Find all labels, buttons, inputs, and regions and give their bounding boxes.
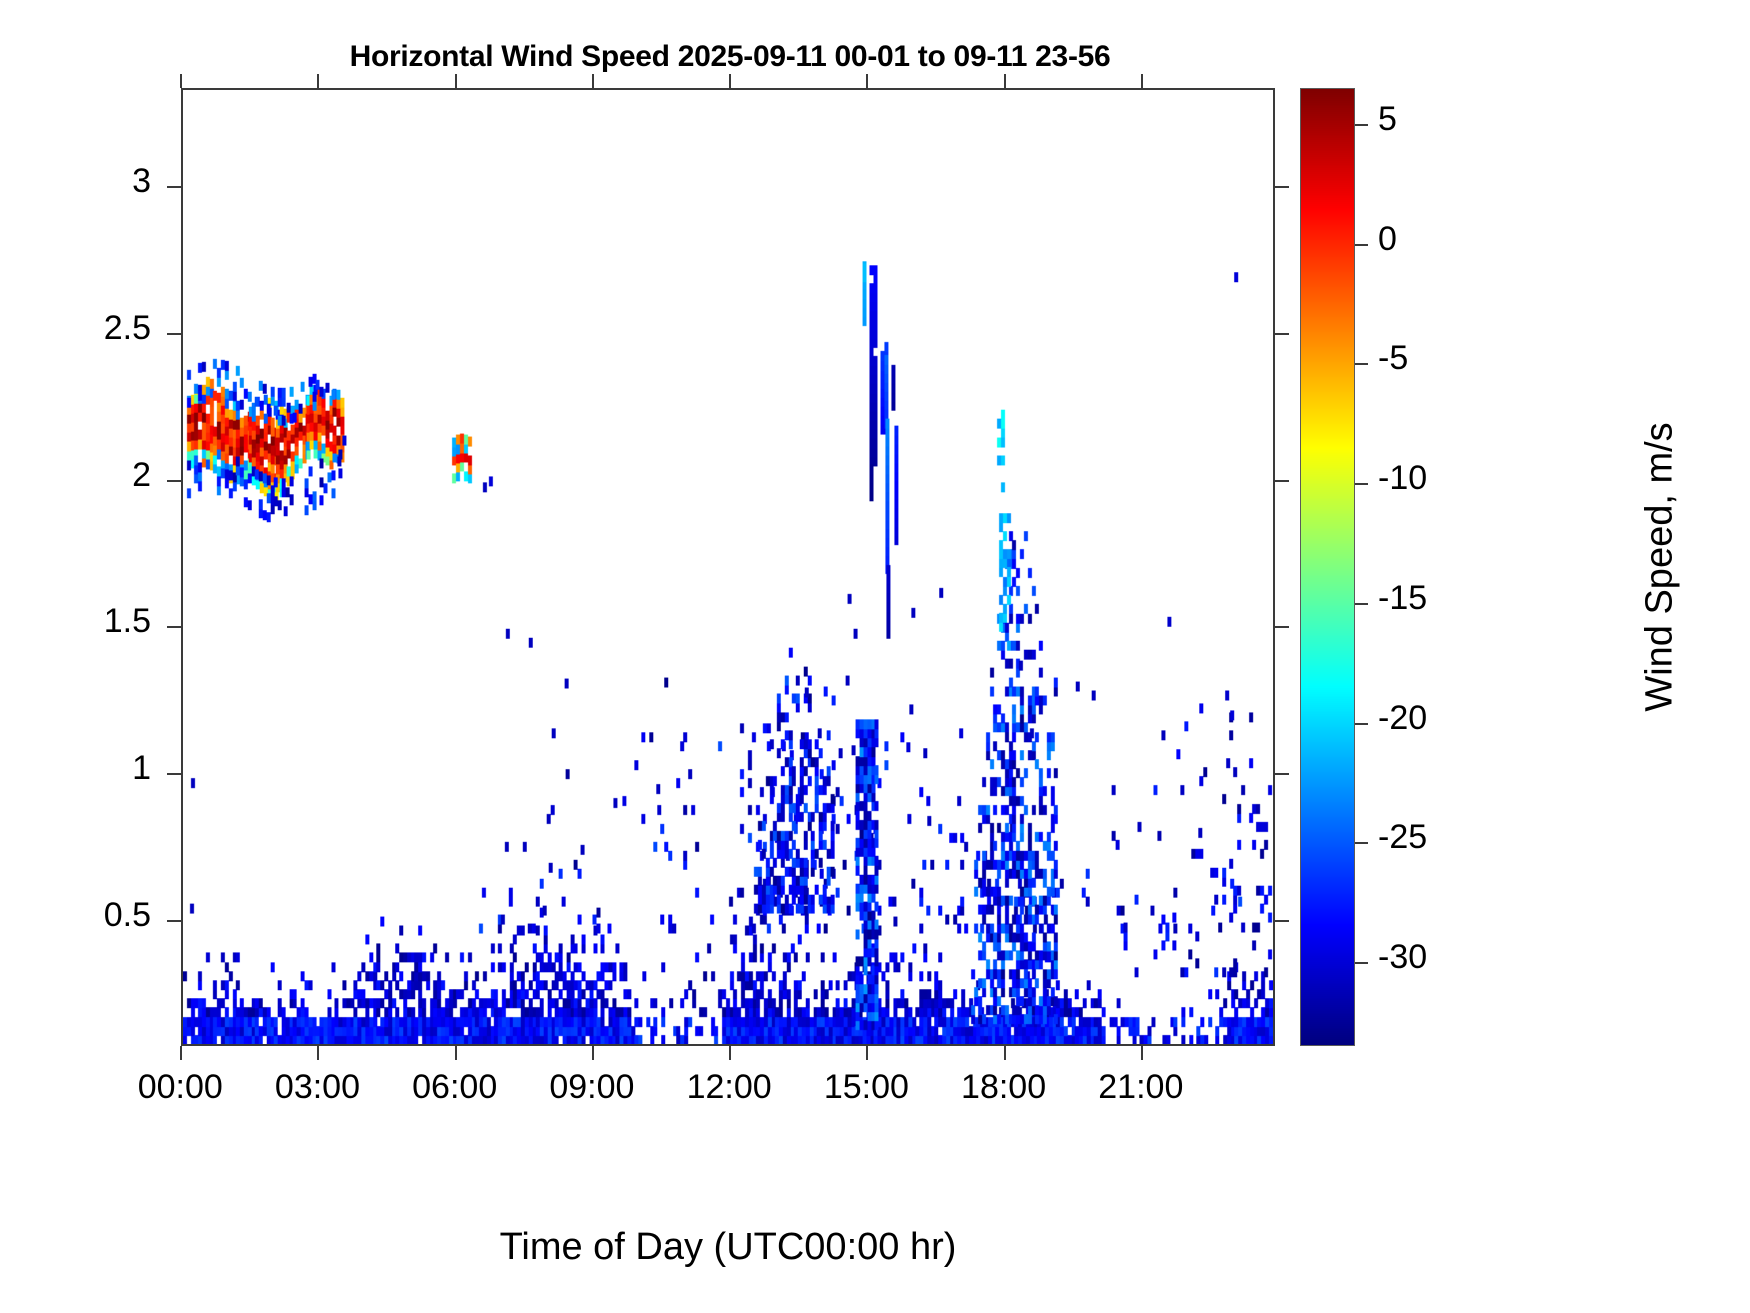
colorbar-tick-mark: [1355, 244, 1368, 246]
x-tick-mark: [455, 1046, 457, 1060]
colorbar-tick-label: 5: [1378, 100, 1397, 139]
y-tick-label: 2.5: [0, 309, 151, 348]
x-tick-mark: [317, 1046, 319, 1060]
y-tick-label: 1.5: [0, 602, 151, 641]
y-tick-mark-right: [1275, 920, 1289, 922]
x-tick-label: 21:00: [1041, 1068, 1241, 1107]
x-tick-mark-top: [729, 74, 731, 88]
y-tick-label: 3: [0, 162, 151, 201]
x-tick-mark-top: [866, 74, 868, 88]
colorbar-tick-label: -20: [1378, 699, 1427, 738]
plot-axes: [181, 88, 1275, 1046]
x-tick-mark-top: [317, 74, 319, 88]
colorbar-tick-label: 0: [1378, 220, 1397, 259]
x-axis-label: Time of Day (UTC00:00 hr): [181, 1226, 1275, 1269]
y-tick-mark-right: [1275, 333, 1289, 335]
y-tick-mark: [167, 480, 181, 482]
x-tick-mark: [1004, 1046, 1006, 1060]
colorbar-tick-label: -30: [1378, 938, 1427, 977]
y-tick-mark-right: [1275, 480, 1289, 482]
x-tick-mark-top: [1141, 74, 1143, 88]
y-tick-mark-right: [1275, 626, 1289, 628]
y-tick-mark: [167, 333, 181, 335]
y-tick-mark: [167, 626, 181, 628]
colorbar-tick-mark: [1355, 603, 1368, 605]
colorbar-tick-mark: [1355, 723, 1368, 725]
colorbar-gradient: [1301, 89, 1354, 1045]
y-tick-mark-right: [1275, 773, 1289, 775]
colorbar-tick-mark: [1355, 842, 1368, 844]
y-tick-label: 0.5: [0, 896, 151, 935]
heatmap-data-layer: [183, 90, 1273, 1044]
x-tick-mark-top: [455, 74, 457, 88]
colorbar: [1300, 88, 1355, 1046]
x-tick-mark-top: [180, 74, 182, 88]
x-tick-mark: [1141, 1046, 1143, 1060]
colorbar-tick-mark: [1355, 124, 1368, 126]
figure-canvas: Horizontal Wind Speed 2025-09-11 00-01 t…: [0, 0, 1750, 1313]
y-tick-mark-right: [1275, 186, 1289, 188]
x-tick-mark: [180, 1046, 182, 1060]
x-tick-mark-top: [592, 74, 594, 88]
x-tick-mark-top: [1004, 74, 1006, 88]
colorbar-tick-mark: [1355, 962, 1368, 964]
colorbar-label: Wind Speed, m/s: [1639, 422, 1682, 711]
colorbar-tick-label: -15: [1378, 579, 1427, 618]
y-tick-mark: [167, 186, 181, 188]
y-tick-label: 1: [0, 749, 151, 788]
page-title: Horizontal Wind Speed 2025-09-11 00-01 t…: [0, 40, 1460, 74]
colorbar-tick-mark: [1355, 363, 1368, 365]
x-tick-mark: [592, 1046, 594, 1060]
y-tick-mark: [167, 920, 181, 922]
colorbar-tick-label: -10: [1378, 459, 1427, 498]
y-tick-label: 2: [0, 456, 151, 495]
colorbar-tick-mark: [1355, 483, 1368, 485]
colorbar-tick-label: -5: [1378, 339, 1408, 378]
x-tick-mark: [866, 1046, 868, 1060]
colorbar-tick-label: -25: [1378, 818, 1427, 857]
y-tick-mark: [167, 773, 181, 775]
x-tick-mark: [729, 1046, 731, 1060]
